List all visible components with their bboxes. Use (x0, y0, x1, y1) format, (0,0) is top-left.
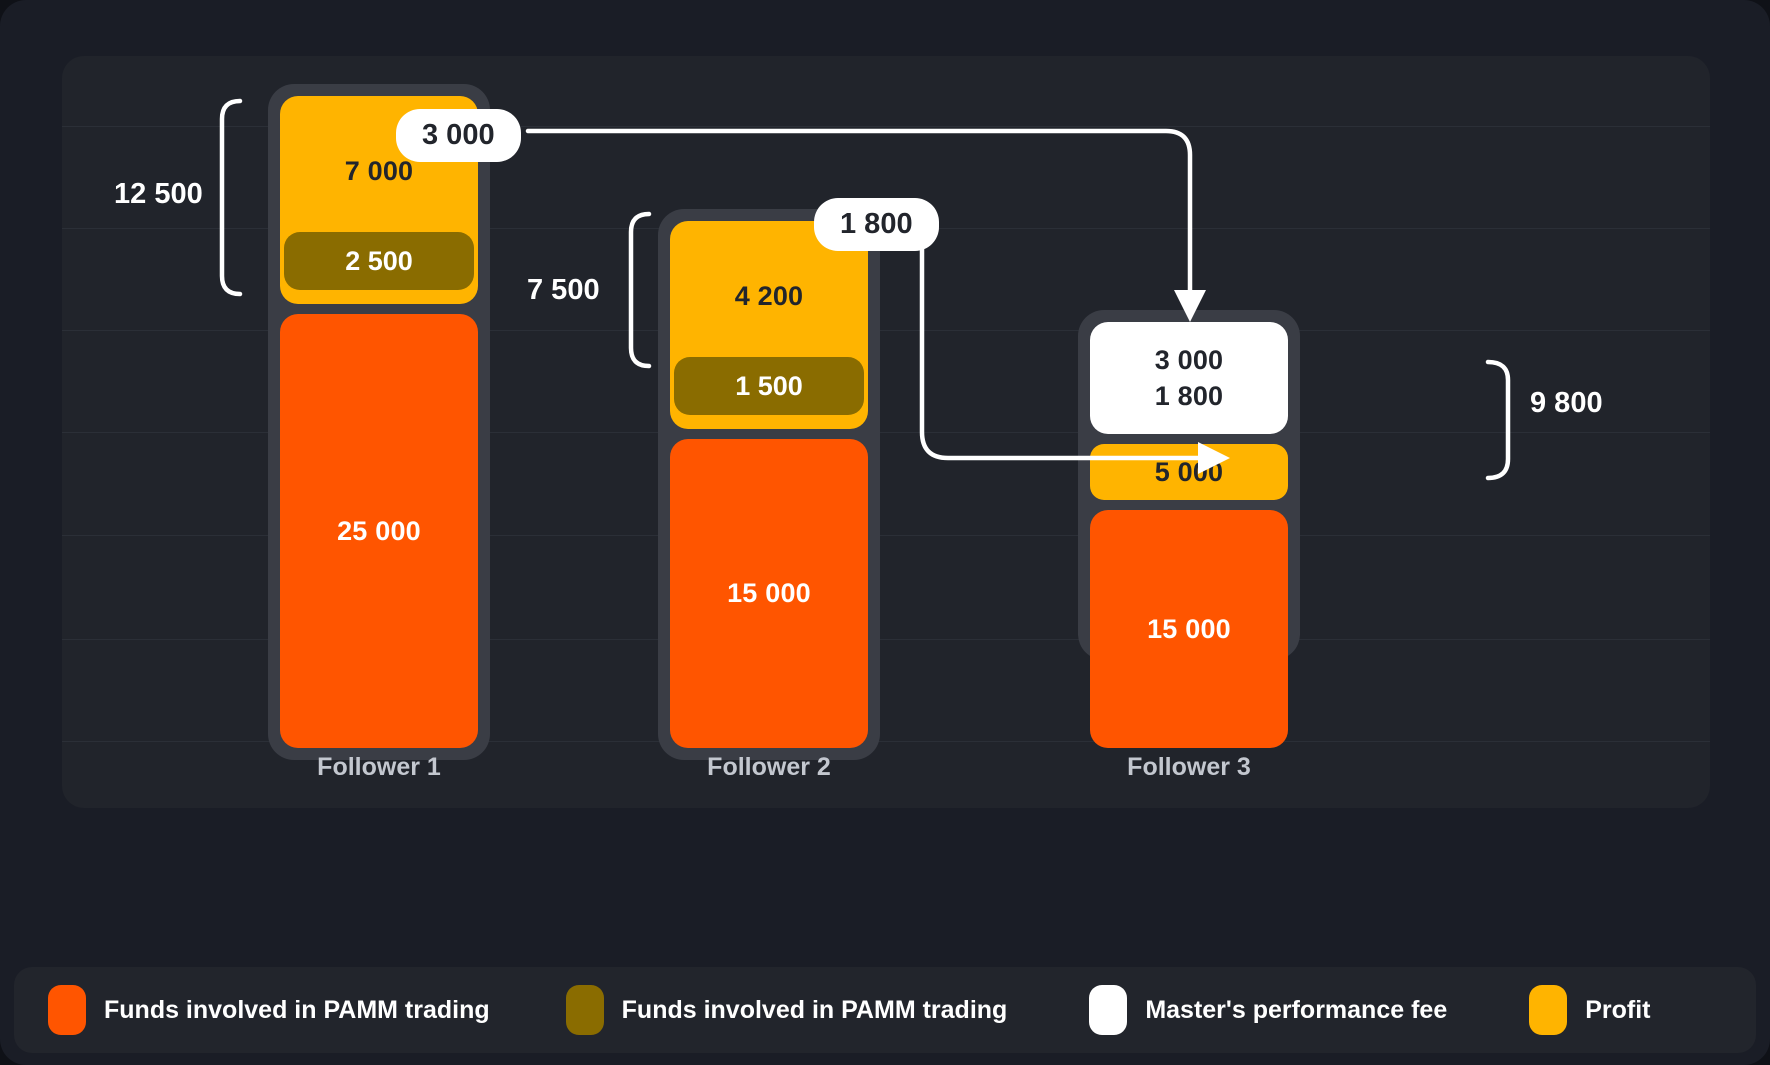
legend-item-reinvested[interactable]: Funds involved in PAMM trading (566, 985, 1008, 1035)
bracket-value-f2: 7 500 (527, 274, 600, 306)
bar-value-profit-f1: 7 000 (345, 156, 414, 187)
axis-label-follower-2: Follower 2 (619, 753, 919, 782)
legend-item-profit[interactable]: Profit (1529, 985, 1650, 1035)
axis-label-follower-3: Follower 3 (1039, 753, 1339, 782)
bar-segment-funds-f1[interactable]: 25 000 (280, 314, 478, 748)
bracket-label-follower-2: 7 500 (527, 274, 600, 307)
legend-swatch-profit (1529, 985, 1567, 1035)
tooltip-value-f2: 1 800 (840, 208, 913, 240)
bar-segment-funds-f2[interactable]: 15 000 (670, 439, 868, 748)
fee-value-line-1: 3 000 (1155, 346, 1224, 374)
legend-label-reinvested: Funds involved in PAMM trading (622, 996, 1008, 1025)
bar-value-reinvested-f2: 1 500 (735, 371, 803, 402)
axis-label-text: Follower 1 (317, 753, 441, 781)
bar-value-profit-f2: 4 200 (735, 281, 804, 312)
tooltip-transfer-f2[interactable]: 1 800 (814, 198, 939, 251)
tooltip-value-f1: 3 000 (422, 119, 495, 151)
legend-label-funds: Funds involved in PAMM trading (104, 996, 490, 1025)
bracket-value-f3: 9 800 (1530, 387, 1603, 419)
legend-swatch-fee (1089, 985, 1127, 1035)
axis-label-text: Follower 2 (707, 753, 831, 781)
bar-value-funds-f1: 25 000 (337, 516, 421, 547)
bar-segment-profit-f3[interactable]: 5 000 (1090, 444, 1288, 500)
legend-swatch-reinvested (566, 985, 604, 1035)
column-follower-1[interactable]: 7 000 2 500 25 000 (268, 84, 490, 760)
bar-value-funds-f2: 15 000 (727, 578, 811, 609)
legend-label-profit: Profit (1585, 996, 1650, 1025)
bar-value-reinvested-f1: 2 500 (345, 246, 413, 277)
legend-label-fee: Master's performance fee (1145, 996, 1447, 1025)
fee-value-line-2: 1 800 (1155, 382, 1224, 410)
legend-item-funds[interactable]: Funds involved in PAMM trading (48, 985, 490, 1035)
bar-segment-reinvested-f2[interactable]: 1 500 (674, 357, 864, 415)
tooltip-transfer-f1[interactable]: 3 000 (396, 109, 521, 162)
bracket-label-follower-1: 12 500 (114, 178, 203, 211)
column-follower-2[interactable]: 4 200 1 500 15 000 (658, 209, 880, 760)
bar-value-funds-f3: 15 000 (1147, 614, 1231, 645)
legend-item-fee[interactable]: Master's performance fee (1089, 985, 1447, 1035)
axis-label-follower-1: Follower 1 (229, 753, 529, 782)
axis-label-text: Follower 3 (1127, 753, 1251, 781)
bar-segment-fee-f3[interactable]: 3 000 1 800 (1090, 322, 1288, 434)
legend-swatch-funds (48, 985, 86, 1035)
bar-value-profit-f3: 5 000 (1155, 457, 1224, 488)
bracket-value-f1: 12 500 (114, 178, 203, 210)
bar-segment-reinvested-f1[interactable]: 2 500 (284, 232, 474, 290)
column-follower-3[interactable]: 3 000 1 800 5 000 15 000 (1078, 310, 1300, 660)
bar-segment-funds-f3[interactable]: 15 000 (1090, 510, 1288, 748)
infographic-root: 7 000 2 500 25 000 4 200 1 500 15 000 3 … (0, 0, 1770, 1065)
legend: Funds involved in PAMM trading Funds inv… (14, 967, 1756, 1053)
bracket-label-follower-3: 9 800 (1530, 387, 1603, 420)
